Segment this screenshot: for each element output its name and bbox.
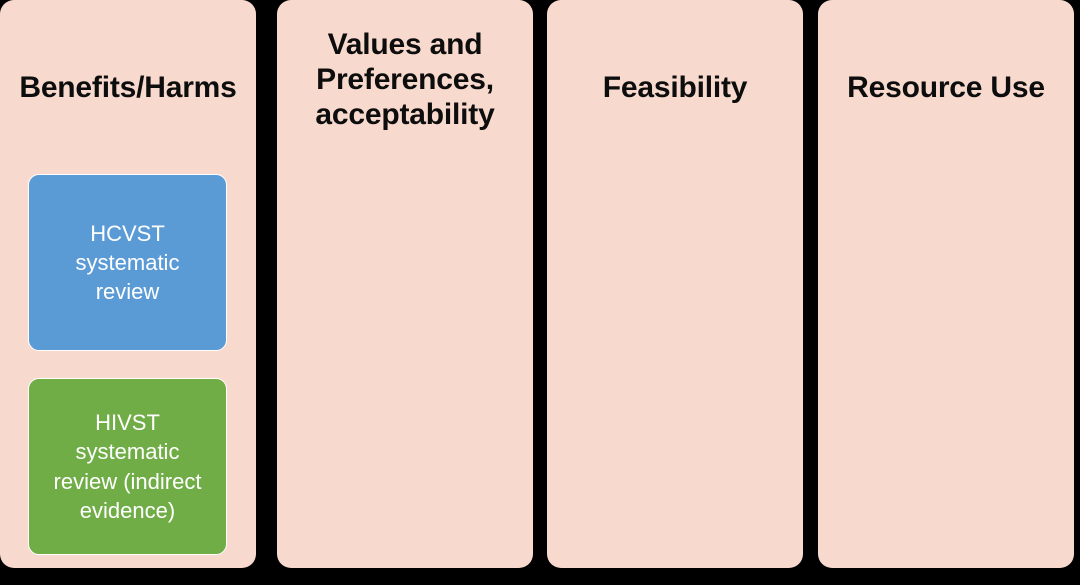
card-hcvst-systematic-review[interactable]: HCVST systematic review bbox=[28, 174, 227, 351]
column-feasibility: Feasibility Special usability & acceptab… bbox=[547, 0, 803, 568]
card-label: HCVST systematic review bbox=[37, 219, 218, 306]
column-heading-benefits-harms: Benefits/Harms bbox=[0, 70, 256, 105]
card-label: HIVST systematic review (indirect eviden… bbox=[37, 408, 218, 524]
column-resource-use: Resource Use bbox=[818, 0, 1074, 568]
card-hivst-systematic-review-indirect[interactable]: HIVST systematic review (indirect eviden… bbox=[28, 378, 227, 555]
evidence-domains-board: Benefits/Harms HCVST systematic review H… bbox=[0, 0, 1080, 585]
column-benefits-harms: Benefits/Harms HCVST systematic review H… bbox=[0, 0, 256, 568]
column-heading-resource-use: Resource Use bbox=[818, 70, 1074, 105]
column-heading-feasibility: Feasibility bbox=[547, 70, 803, 105]
column-heading-values-preferences: Values and Preferences, acceptability bbox=[277, 27, 533, 132]
column-values-preferences: Values and Preferences, acceptability HC… bbox=[277, 0, 533, 568]
